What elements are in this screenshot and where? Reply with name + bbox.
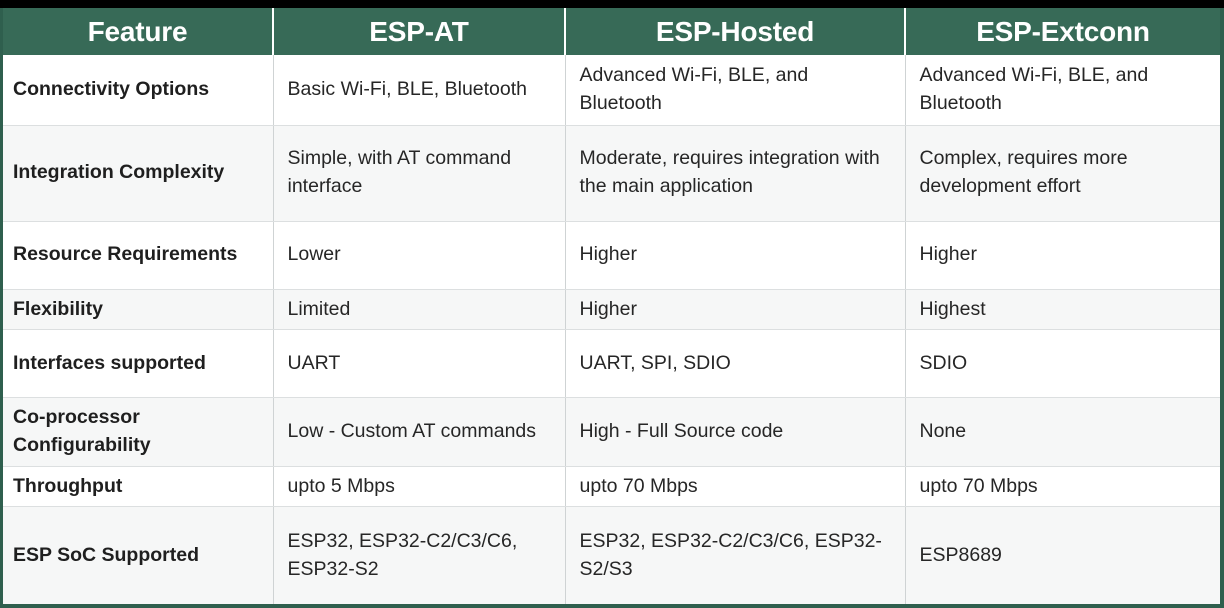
- cell-esp-hosted: High - Full Source code: [565, 398, 905, 466]
- table-row: Integration Complexity Simple, with AT c…: [3, 125, 1220, 221]
- feature-label: Flexibility: [3, 289, 273, 330]
- cell-esp-hosted: UART, SPI, SDIO: [565, 330, 905, 398]
- feature-label: ESP SoC Supported: [3, 507, 273, 604]
- table-header: Feature ESP-AT ESP-Hosted ESP-Extconn: [3, 8, 1220, 55]
- table-row: Interfaces supported UART UART, SPI, SDI…: [3, 330, 1220, 398]
- cell-esp-at: upto 5 Mbps: [273, 466, 565, 507]
- table-row: Flexibility Limited Higher Highest: [3, 289, 1220, 330]
- table-row: Resource Requirements Lower Higher Highe…: [3, 221, 1220, 289]
- feature-label: Resource Requirements: [3, 221, 273, 289]
- feature-label: Connectivity Options: [3, 55, 273, 125]
- cell-esp-hosted: Higher: [565, 289, 905, 330]
- screenshot-canvas: Feature ESP-AT ESP-Hosted ESP-Extconn Co…: [0, 0, 1224, 608]
- cell-esp-at: UART: [273, 330, 565, 398]
- cell-esp-extconn: None: [905, 398, 1220, 466]
- cell-esp-extconn: upto 70 Mbps: [905, 466, 1220, 507]
- esp-solution-comparison-table: Feature ESP-AT ESP-Hosted ESP-Extconn Co…: [3, 8, 1220, 604]
- table-row: Co-processor Configurability Low - Custo…: [3, 398, 1220, 466]
- cell-esp-at: Low - Custom AT commands: [273, 398, 565, 466]
- cell-esp-at: Lower: [273, 221, 565, 289]
- cell-esp-hosted: Higher: [565, 221, 905, 289]
- table-row: Connectivity Options Basic Wi-Fi, BLE, B…: [3, 55, 1220, 125]
- cell-esp-hosted: Advanced Wi-Fi, BLE, and Bluetooth: [565, 55, 905, 125]
- cell-esp-extconn: SDIO: [905, 330, 1220, 398]
- feature-label: Throughput: [3, 466, 273, 507]
- cell-esp-at: Limited: [273, 289, 565, 330]
- comparison-table-container: Feature ESP-AT ESP-Hosted ESP-Extconn Co…: [0, 8, 1224, 608]
- column-header-esp-extconn: ESP-Extconn: [905, 8, 1220, 55]
- cell-esp-extconn: Advanced Wi-Fi, BLE, and Bluetooth: [905, 55, 1220, 125]
- cell-esp-at: ESP32, ESP32-C2/C3/C6, ESP32-S2: [273, 507, 565, 604]
- feature-label: Interfaces supported: [3, 330, 273, 398]
- table-body: Connectivity Options Basic Wi-Fi, BLE, B…: [3, 55, 1220, 604]
- column-header-esp-hosted: ESP-Hosted: [565, 8, 905, 55]
- cell-esp-hosted: ESP32, ESP32-C2/C3/C6, ESP32-S2/S3: [565, 507, 905, 604]
- cell-esp-extconn: Highest: [905, 289, 1220, 330]
- header-row: Feature ESP-AT ESP-Hosted ESP-Extconn: [3, 8, 1220, 55]
- top-black-bar: [0, 0, 1224, 8]
- cell-esp-at: Simple, with AT command interface: [273, 125, 565, 221]
- table-row: ESP SoC Supported ESP32, ESP32-C2/C3/C6,…: [3, 507, 1220, 604]
- feature-label: Co-processor Configurability: [3, 398, 273, 466]
- feature-label: Integration Complexity: [3, 125, 273, 221]
- cell-esp-extconn: ESP8689: [905, 507, 1220, 604]
- cell-esp-hosted: Moderate, requires integration with the …: [565, 125, 905, 221]
- cell-esp-at: Basic Wi-Fi, BLE, Bluetooth: [273, 55, 565, 125]
- table-row: Throughput upto 5 Mbps upto 70 Mbps upto…: [3, 466, 1220, 507]
- cell-esp-hosted: upto 70 Mbps: [565, 466, 905, 507]
- column-header-esp-at: ESP-AT: [273, 8, 565, 55]
- cell-esp-extconn: Complex, requires more development effor…: [905, 125, 1220, 221]
- column-header-feature: Feature: [3, 8, 273, 55]
- cell-esp-extconn: Higher: [905, 221, 1220, 289]
